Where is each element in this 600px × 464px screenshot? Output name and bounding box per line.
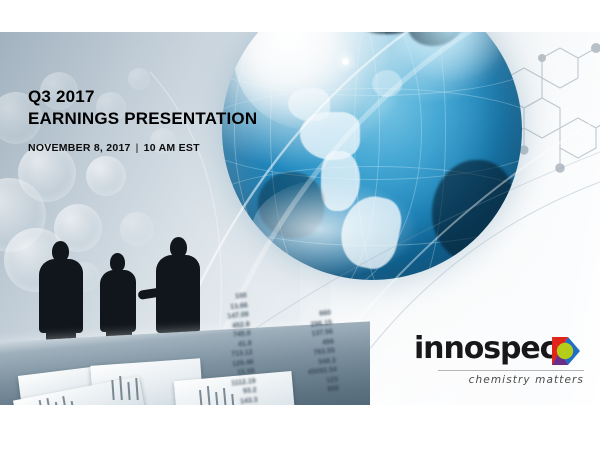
- logo-divider: [438, 370, 584, 371]
- innospec-logo: innospec chemistry matters: [414, 332, 586, 390]
- title-date: NOVEMBER 8, 2017: [28, 142, 131, 154]
- logo-tagline: chemistry matters: [414, 374, 584, 386]
- title-time: 10 AM EST: [144, 142, 200, 154]
- title-block: Q3 2017 EARNINGS PRESENTATION NOVEMBER 8…: [28, 86, 257, 154]
- title-line-quarter: Q3 2017: [28, 86, 257, 108]
- presentation-title-slide: 10013.66147.09452.8745.041.8713.12129.46…: [0, 0, 600, 464]
- title-datetime: NOVEMBER 8, 2017|10 AM EST: [28, 142, 257, 154]
- innospec-triangle-mark: [550, 336, 584, 366]
- title-separator: |: [136, 142, 139, 154]
- spreadsheet-numbers: 10013.66147.09452.8745.041.8713.12129.46…: [181, 283, 346, 405]
- title-line-main: EARNINGS PRESENTATION: [28, 108, 257, 130]
- logo-wordmark: innospec: [414, 332, 556, 366]
